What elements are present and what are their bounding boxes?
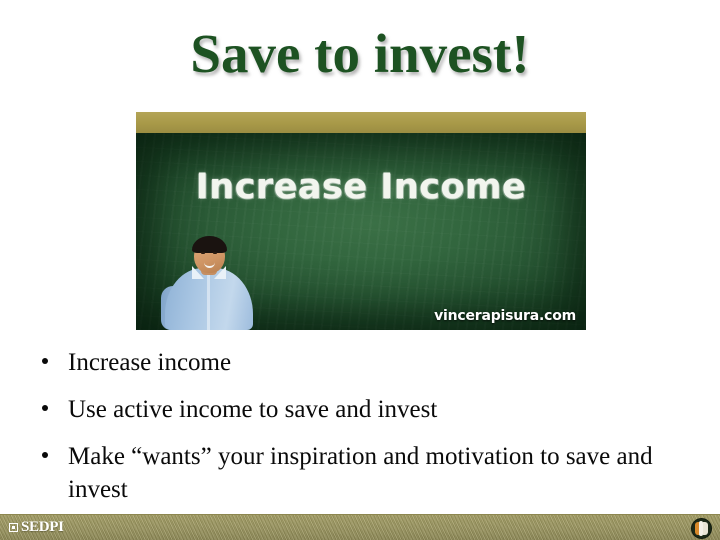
person-hair	[192, 236, 227, 253]
logo-center-shape	[699, 521, 703, 536]
person-shirt-placket	[207, 275, 210, 330]
list-item: Use active income to save and invest	[36, 393, 686, 426]
image-gold-band	[136, 112, 586, 133]
chalkboard-text: Increase Income	[136, 167, 586, 207]
page-title: Save to invest!	[0, 22, 720, 86]
person-eye-right	[213, 252, 217, 254]
bullet-dot-icon	[42, 405, 48, 411]
footer-brand: SEDPI	[9, 519, 64, 536]
presentation-slide: Save to invest! Increase Income vincerap…	[0, 0, 720, 540]
list-item: Make “wants” your inspiration and motiva…	[36, 440, 686, 506]
sedpi-circle-logo-icon	[691, 518, 712, 539]
image-watermark: vincerapisura.com	[434, 308, 576, 324]
slide-image: Increase Income vincerapisura.com	[136, 112, 586, 330]
logo-right-shape	[703, 522, 708, 535]
bullet-dot-icon	[42, 452, 48, 458]
person-illustration	[161, 235, 257, 330]
list-item-label: Use active income to save and invest	[68, 396, 437, 423]
list-item-label: Make “wants” your inspiration and motiva…	[68, 443, 653, 503]
bullet-dot-icon	[42, 358, 48, 364]
footer-brand-label: SEDPI	[21, 519, 64, 536]
slide-footer: SEDPI	[0, 514, 720, 540]
list-item-label: Increase income	[68, 349, 231, 376]
sedpi-square-icon	[9, 523, 18, 532]
list-item: Increase income	[36, 346, 686, 379]
person-eye-left	[201, 252, 205, 254]
bullet-list: Increase income Use active income to sav…	[36, 346, 686, 506]
